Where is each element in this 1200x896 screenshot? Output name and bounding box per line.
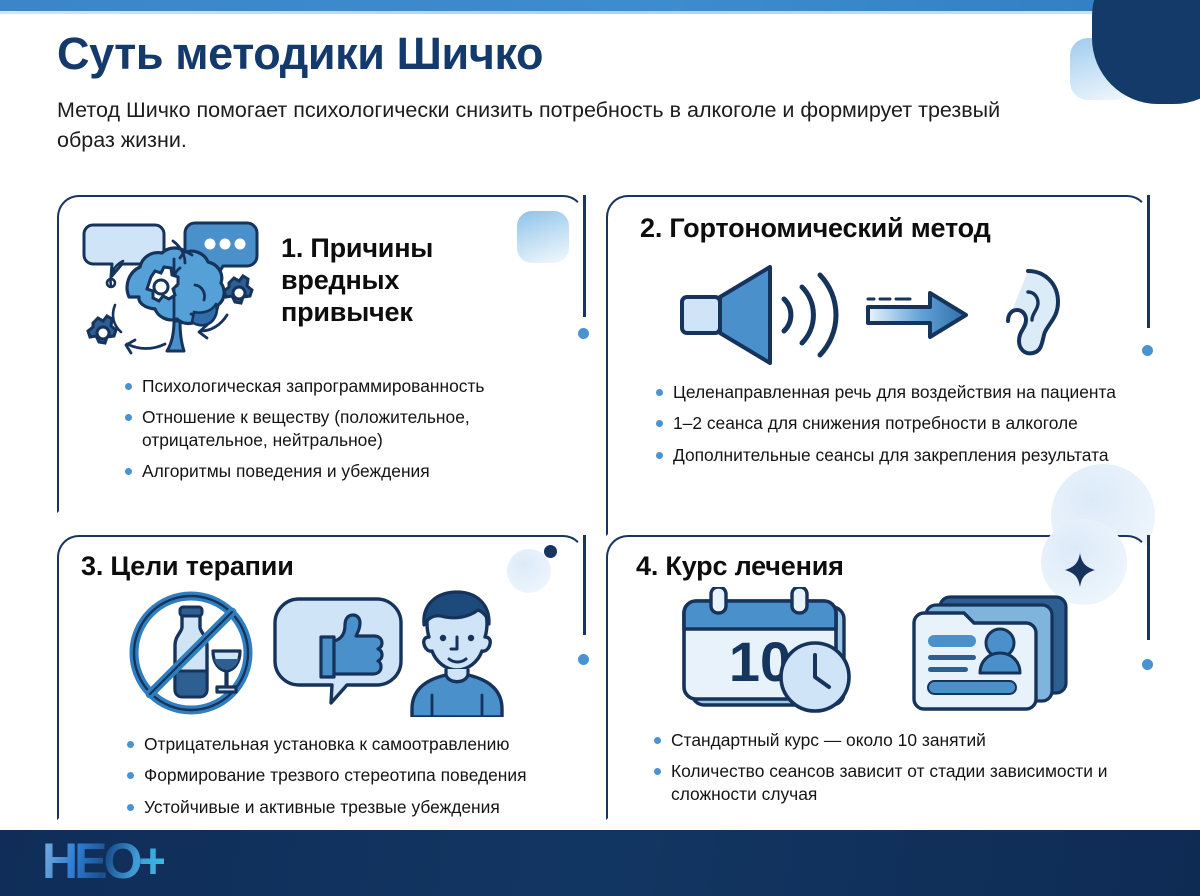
list-item: Алгоритмы поведения и убеждения [123, 460, 551, 482]
footer-bar: НЕО+ [0, 830, 1200, 896]
card-bullet-list: Психологическая запрограммированность От… [101, 375, 571, 491]
card-right-border-stub [1147, 195, 1150, 328]
brain-gears-icon [77, 211, 273, 361]
list-item: Стандартный курс — около 10 занятий [652, 729, 1115, 751]
no-alcohol-thumbsup-person-icon [59, 589, 583, 717]
card-title: 3. Цели терапии [59, 537, 583, 583]
brand-logo: НЕО+ [42, 836, 164, 886]
list-item: Дополнительные сеансы для закрепления ре… [654, 444, 1117, 466]
top-accent-underglow [0, 11, 1200, 14]
page-title: Суть методики Шичко [57, 30, 1067, 79]
page-subtitle: Метод Шичко помогает психологически сниз… [57, 95, 1017, 156]
card-title: 2. Гортономический метод [608, 197, 1147, 245]
speaker-arrow-ear-icon [608, 259, 1147, 367]
cards-grid: 1. Причины вредных привычек Психологичес… [57, 195, 1149, 820]
list-item: Устойчивые и активные трезвые убеждения [125, 796, 563, 818]
header: Суть методики Шичко Метод Шичко помогает… [57, 30, 1067, 156]
list-item: Психологическая запрограммированность [123, 375, 551, 397]
list-item: 1–2 сеанса для снижения потребности в ал… [654, 412, 1117, 434]
card-right-border-stub [583, 195, 586, 317]
list-item: Формирование трезвого стереотипа поведен… [125, 764, 563, 786]
card-title: 4. Курс лечения [608, 537, 1147, 583]
card-right-border-stub [1147, 535, 1150, 640]
card-title: 1. Причины вредных привычек [273, 211, 523, 329]
list-item: Отрицательная установка к самоотравлению [125, 733, 563, 755]
card-bullet-list: Отрицательная установка к самоотравлению… [103, 733, 583, 827]
list-item: Отношение к веществу (положительное, отр… [123, 406, 551, 451]
card-causes-of-bad-habits: 1. Причины вредных привычек Психологичес… [57, 195, 585, 513]
card-right-border-stub [583, 535, 586, 635]
card-therapy-goals: 3. Цели терапии [57, 535, 585, 820]
calendar-clock-cards-icon: 10 [608, 587, 1147, 715]
card-bullet-list: Целенаправленная речь для воздействия на… [632, 381, 1137, 475]
list-item: Целенаправленная речь для воздействия на… [654, 381, 1117, 403]
card-treatment-course: 4. Курс лечения 10 [606, 535, 1149, 820]
top-accent-bar [0, 0, 1200, 11]
card-bullet-list: Стандартный курс — около 10 занятий Коли… [630, 729, 1135, 814]
list-item: Количество сеансов зависит от стадии зав… [652, 760, 1115, 805]
card-hortonomic-method: 2. Гортономический метод [606, 195, 1149, 536]
